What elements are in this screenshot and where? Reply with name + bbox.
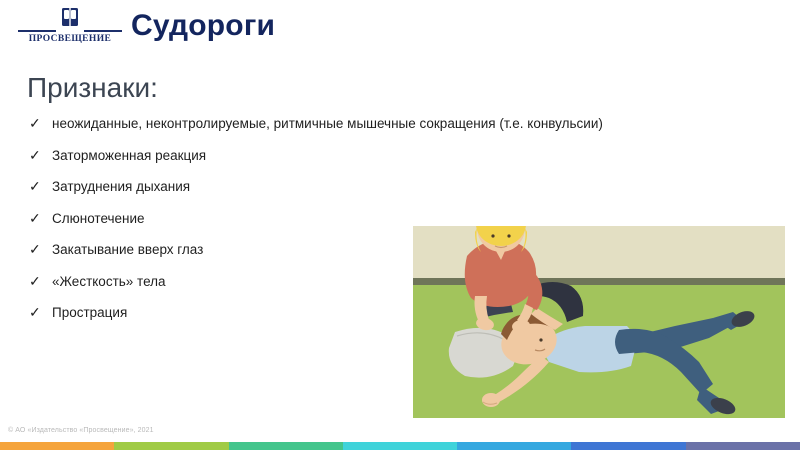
logo-rule-right <box>84 30 122 32</box>
color-bar-segment-3 <box>229 442 343 450</box>
list-item-label: Закатывание вверх глаз <box>52 242 203 257</box>
publisher-logo: ПРОСВЕЩЕНИЕ <box>18 6 122 48</box>
color-bar-segment-5 <box>457 442 571 450</box>
list-item: ✓ Затруднения дыхания <box>27 179 727 195</box>
list-item: ✓ Слюнотечение <box>27 211 727 227</box>
checkmark-icon: ✓ <box>29 210 43 224</box>
list-item-label: Слюнотечение <box>52 211 145 226</box>
list-item-label: Заторможенная реакция <box>52 148 206 163</box>
footer-color-bar <box>0 442 800 450</box>
slide-header: ПРОСВЕЩЕНИЕ Судороги <box>0 0 800 56</box>
checkmark-icon: ✓ <box>29 115 43 129</box>
open-book-icon <box>59 6 81 28</box>
color-bar-segment-2 <box>114 442 228 450</box>
list-item: ✓ неожиданные, неконтролируемые, ритмичн… <box>27 116 727 132</box>
color-bar-segment-7 <box>686 442 800 450</box>
checkmark-icon: ✓ <box>29 273 43 287</box>
copyright-notice: © АО «Издательство «Просвещение», 2021 <box>8 427 154 434</box>
color-bar-segment-6 <box>571 442 685 450</box>
list-item: ✓ Заторможенная реакция <box>27 148 727 164</box>
color-bar-segment-1 <box>0 442 114 450</box>
list-item-label: Прострация <box>52 305 127 320</box>
slide-title: Судороги <box>131 9 275 43</box>
slide: ПРОСВЕЩЕНИЕ Судороги Признаки: ✓ неожида… <box>0 0 800 450</box>
section-heading: Признаки: <box>27 72 158 104</box>
color-bar-segment-4 <box>343 442 457 450</box>
checkmark-icon: ✓ <box>29 241 43 255</box>
seizure-first-aid-illustration <box>413 226 785 418</box>
logo-rule-left <box>18 30 56 32</box>
logo-wordmark: ПРОСВЕЩЕНИЕ <box>18 34 122 44</box>
list-item-label: Затруднения дыхания <box>52 179 190 194</box>
list-item-label: «Жесткость» тела <box>52 274 166 289</box>
list-item-label: неожиданные, неконтролируемые, ритмичные… <box>52 116 603 131</box>
checkmark-icon: ✓ <box>29 304 43 318</box>
checkmark-icon: ✓ <box>29 178 43 192</box>
checkmark-icon: ✓ <box>29 147 43 161</box>
